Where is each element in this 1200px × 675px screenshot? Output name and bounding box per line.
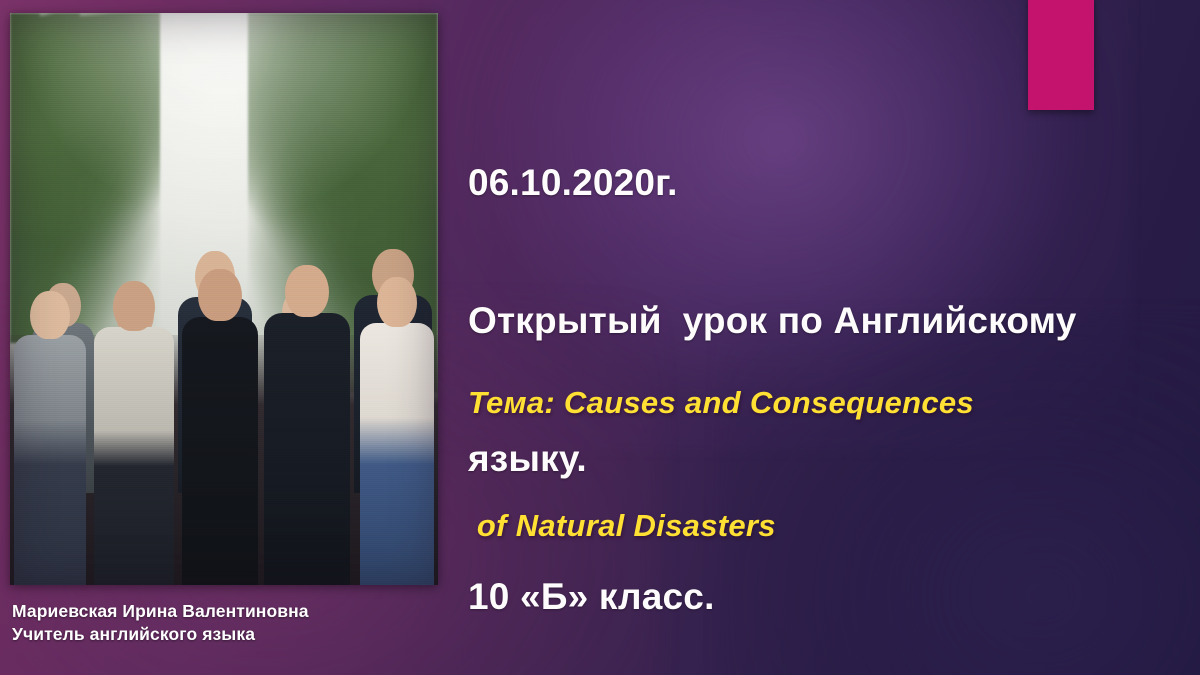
theme-line-2: of Natural Disasters [468,505,1168,546]
author-credit: Мариевская Ирина Валентиновна Учитель ан… [12,600,482,646]
group-photo [10,13,438,585]
presentation-slide: 06.10.2020г. Открытый урок по Английском… [0,0,1200,675]
author-name: Мариевская Ирина Валентиновна [12,600,482,623]
photo-vignette [10,13,438,585]
author-title: Учитель английского языка [12,623,482,646]
headline-line-date: 06.10.2020г. [468,160,1158,206]
theme-line-1: Тема: Causes and Consequences [468,382,1168,423]
slide-theme: Тема: Causes and Consequences of Natural… [468,300,1168,628]
